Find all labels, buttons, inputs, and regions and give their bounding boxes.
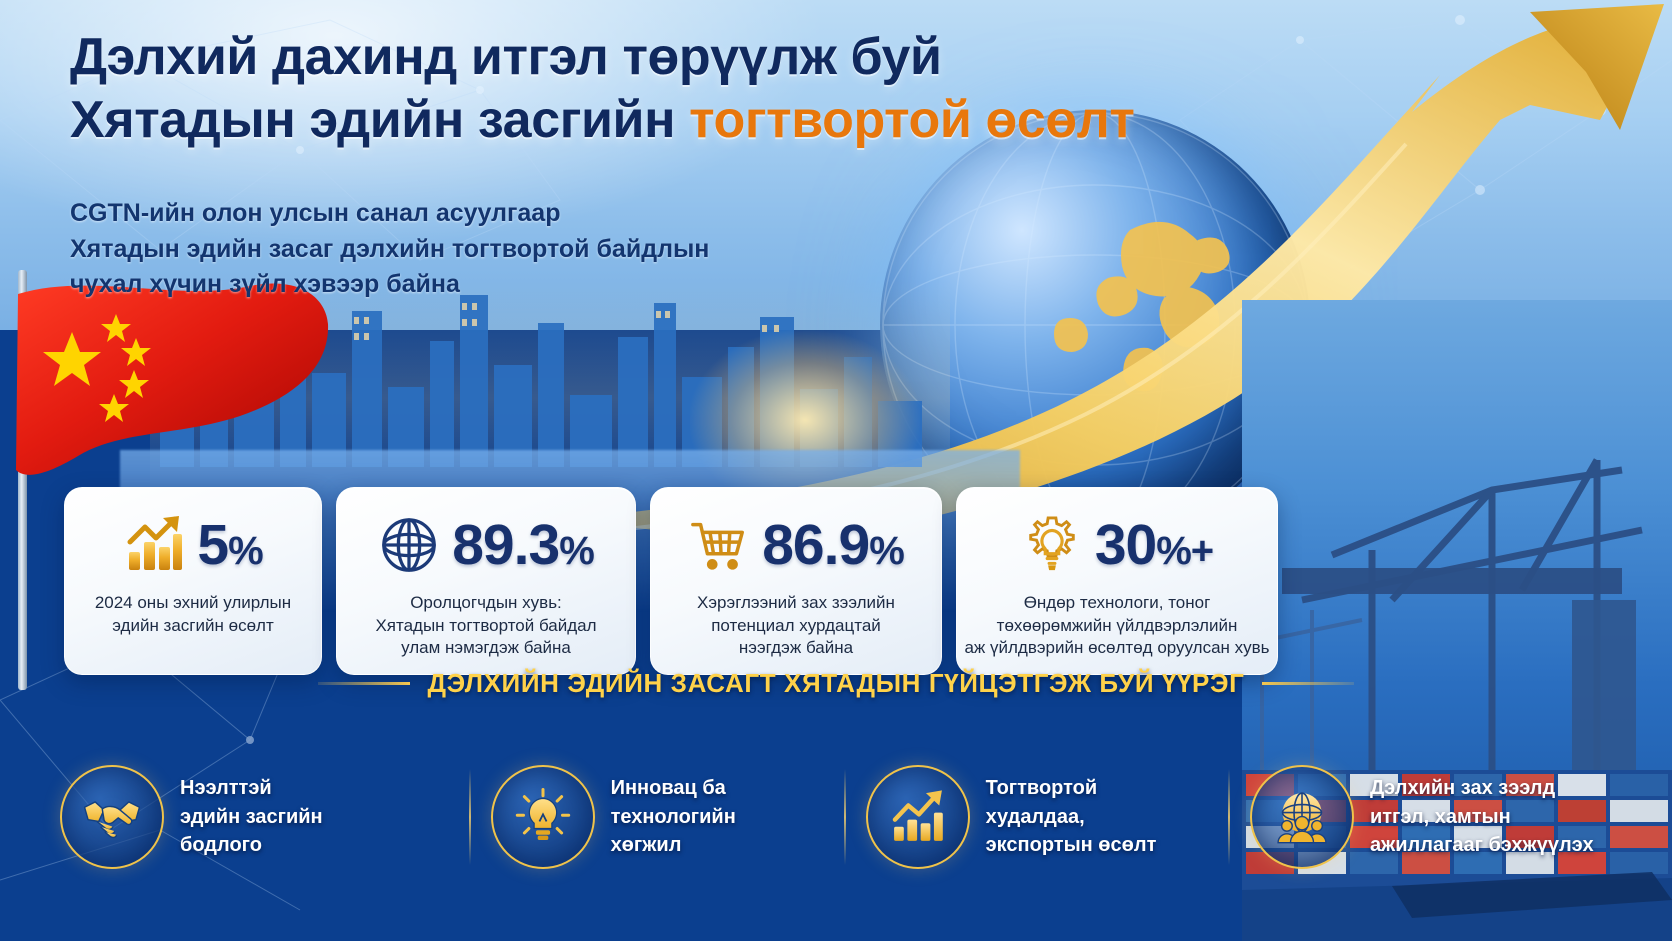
feature-label-line-2: эдийн засгийн xyxy=(180,803,323,831)
shopping-cart-icon xyxy=(688,514,750,576)
feature-label-line-1: Тогтвортой xyxy=(986,774,1157,802)
stat-value: 89.3% xyxy=(452,517,594,574)
stat-desc-line-1: Оролцогчдын хувь: xyxy=(375,592,596,615)
stat-unit: %+ xyxy=(1156,529,1213,573)
stat-desc-line-3: аж үйлдвэрийн өсөлтөд оруулсан хувь xyxy=(964,637,1269,660)
feature-list: Нээлттэй эдийн засгийн бодлого xyxy=(60,712,1620,922)
globe-icon xyxy=(378,514,440,576)
title-line-2: Хятадын эдийн засгийн тогтвортой өсөлт xyxy=(70,89,1190,152)
stat-unit: % xyxy=(869,529,904,573)
stat-desc-line-3: нээгдэж байна xyxy=(697,637,895,660)
stat-unit: % xyxy=(228,529,263,573)
stat-desc-line-2: эдийн засгийн өсөлт xyxy=(95,615,291,638)
stat-desc-line-1: Өндөр технологи, тоног xyxy=(964,592,1269,615)
stat-description: Оролцогчдын хувь: Хятадын тогтвортой бай… xyxy=(375,592,596,660)
feature-label-line-2: итгэл, хамтын xyxy=(1370,803,1594,831)
page-title: Дэлхий дахинд итгэл төрүүлж буй Хятадын … xyxy=(70,26,1190,153)
stat-card-top: 86.9% xyxy=(688,506,904,584)
stat-number: 89.3 xyxy=(452,513,559,577)
stat-description: Өндөр технологи, тоног төхөөрөмжийн үйлд… xyxy=(964,592,1269,660)
stat-number: 86.9 xyxy=(762,513,869,577)
feature-label-line-2: технологийн xyxy=(611,803,736,831)
lightbulb-icon xyxy=(491,765,595,869)
stat-desc-line-1: Хэрэглээний зах зээлийн xyxy=(697,592,895,615)
feature-label: Нээлттэй эдийн засгийн бодлого xyxy=(180,774,323,859)
stat-card-top: 30%+ xyxy=(1021,506,1213,584)
feature-divider xyxy=(844,769,846,865)
stat-card: 89.3% Оролцогчдын хувь: Хятадын тогтворт… xyxy=(336,487,636,675)
feature-label-line-3: экспортын өсөлт xyxy=(986,831,1157,859)
stat-card-list: 5% 2024 оны эхний улирлын эдийн засгийн … xyxy=(64,487,1278,675)
stat-card-top: 5% xyxy=(123,506,262,584)
title-line-2-plain: Хятадын эдийн засгийн xyxy=(70,91,689,149)
stat-unit: % xyxy=(559,529,594,573)
stat-description: Хэрэглээний зах зээлийн потенциал хурдац… xyxy=(697,592,895,660)
stat-value: 30%+ xyxy=(1095,517,1213,574)
stat-desc-line-3: улам нэмэгдэж байна xyxy=(375,637,596,660)
stat-card: 30%+ Өндөр технологи, тоног төхөөрөмжийн… xyxy=(956,487,1278,675)
gear-lightbulb-icon xyxy=(1021,514,1083,576)
infographic-poster: Дэлхий дахинд итгэл төрүүлж буй Хятадын … xyxy=(0,0,1672,941)
section-rule-right xyxy=(1262,682,1354,685)
feature-label-line-3: ажиллагааг бэхжүүлэх xyxy=(1370,831,1594,859)
stat-desc-line-1: 2024 оны эхний улирлын xyxy=(95,592,291,615)
feature-label-line-2: худалдаа, xyxy=(986,803,1157,831)
stat-value: 86.9% xyxy=(762,517,904,574)
global-people-icon xyxy=(1250,765,1354,869)
title-line-1: Дэлхий дахинд итгэл төрүүлж буй xyxy=(70,26,1190,89)
feature-divider xyxy=(1228,769,1230,865)
section-header: ДЭЛХИЙН ЭДИЙН ЗАСАГТ ХЯТАДЫН ГҮЙЦЭТГЭЖ Б… xyxy=(0,668,1672,699)
stat-desc-line-2: төхөөрөмжийн үйлдвэрлэлийн xyxy=(964,615,1269,638)
feature-label-line-1: Дэлхийн зах зээлд xyxy=(1370,774,1594,802)
feature-item: Нээлттэй эдийн засгийн бодлого xyxy=(60,765,449,869)
section-title: ДЭЛХИЙН ЭДИЙН ЗАСАГТ ХЯТАДЫН ГҮЙЦЭТГЭЖ Б… xyxy=(428,668,1245,699)
subtitle-line-1: CGTN-ийн олон улсын санал асуулгаар xyxy=(70,196,810,232)
stat-number: 5 xyxy=(197,513,228,577)
subtitle-line-2: Хятадын эдийн засаг дэлхийн тогтвортой б… xyxy=(70,232,810,268)
stat-card-top: 89.3% xyxy=(378,506,594,584)
feature-item: Тогтвортой худалдаа, экспортын өсөлт xyxy=(866,765,1208,869)
subtitle-line-3: чухал хүчин зүйл хэвээр байна xyxy=(70,267,810,303)
stat-card: 5% 2024 оны эхний улирлын эдийн засгийн … xyxy=(64,487,322,675)
feature-label-line-3: бодлого xyxy=(180,831,323,859)
handshake-icon xyxy=(60,765,164,869)
section-rule-left xyxy=(318,682,410,685)
subtitle: CGTN-ийн олон улсын санал асуулгаар Хята… xyxy=(70,196,810,303)
growth-chart-icon xyxy=(866,765,970,869)
feature-item: Дэлхийн зах зээлд итгэл, хамтын ажиллага… xyxy=(1250,765,1620,869)
stat-card: 86.9% Хэрэглээний зах зээлийн потенциал … xyxy=(650,487,942,675)
stat-value: 5% xyxy=(197,517,262,574)
feature-label: Дэлхийн зах зээлд итгэл, хамтын ажиллага… xyxy=(1370,774,1594,859)
feature-label: Инновац ба технологийн хөгжил xyxy=(611,774,736,859)
feature-label-line-1: Нээлттэй xyxy=(180,774,323,802)
stat-desc-line-2: Хятадын тогтвортой байдал xyxy=(375,615,596,638)
feature-label: Тогтвортой худалдаа, экспортын өсөлт xyxy=(986,774,1157,859)
feature-label-line-3: хөгжил xyxy=(611,831,736,859)
feature-label-line-1: Инновац ба xyxy=(611,774,736,802)
stat-description: 2024 оны эхний улирлын эдийн засгийн өсө… xyxy=(95,592,291,637)
title-highlight: тогтвортой өсөлт xyxy=(689,91,1134,149)
bar-chart-growth-icon xyxy=(123,514,185,576)
stat-number: 30 xyxy=(1095,513,1156,577)
stat-desc-line-2: потенциал хурдацтай xyxy=(697,615,895,638)
feature-item: Инновац ба технологийн хөгжил xyxy=(491,765,824,869)
feature-divider xyxy=(469,769,471,865)
